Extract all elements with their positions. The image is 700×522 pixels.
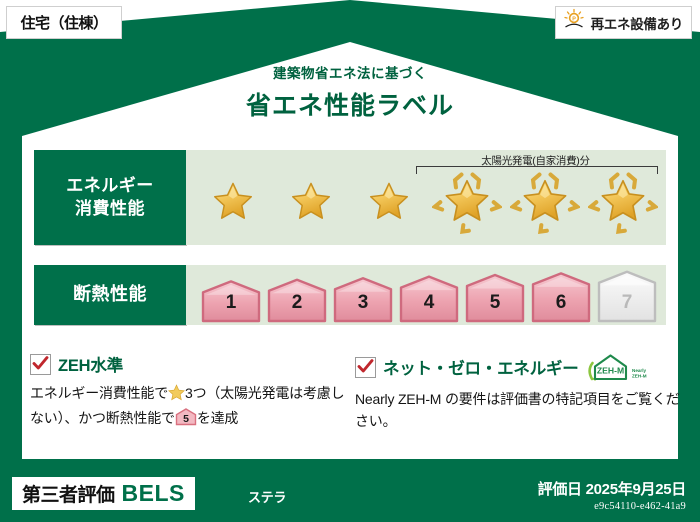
bels-badge: 第三者評価 BELS: [12, 477, 195, 510]
house-icon: 1: [198, 269, 264, 323]
energy-performance-label: 住宅（住棟） P 再エネ設備あり 建築物省エネ法に基づく 省エネ性能ラベル: [0, 0, 700, 522]
evaluation-info: 評価日 2025年9月25日 e9c54110-e462-41a9: [538, 478, 686, 512]
insulation-level-number: 6: [528, 292, 594, 314]
star-rating-strip: [194, 166, 664, 242]
checkmark-icon: [30, 354, 51, 375]
zeh-m-logo: ZEH-M Nearly ZEH-M: [586, 352, 648, 382]
insulation-level-strip: 1 2: [198, 268, 664, 323]
zeh-body-post: を達成: [197, 410, 238, 426]
evaluation-id: e9c54110-e462-41a9: [538, 501, 686, 512]
housing-type-label: 住宅（住棟）: [20, 12, 107, 33]
bels-label: BELS: [122, 480, 185, 507]
title-subtitle: 建築物省エネ法に基づく: [0, 62, 700, 82]
insulation-level-number: 7: [594, 292, 660, 314]
zeh-statement-body: エネルギー消費性能で 3つ（太陽光発電は考慮しない）、かつ断熱性能で 5 を達成: [30, 383, 350, 432]
star-icon: [272, 166, 350, 242]
insulation-performance-label: 断熱性能: [34, 265, 186, 325]
svg-text:P: P: [572, 16, 576, 22]
zeh-standard-statement: ZEH水準 エネルギー消費性能で 3つ（太陽光発電は考慮しない）、かつ断熱性能で…: [30, 352, 350, 432]
zeh-statement-header: ZEH水準: [30, 352, 350, 376]
solar-sun-icon: P: [562, 8, 586, 37]
house-icon: 2: [264, 269, 330, 323]
third-party-label: 第三者評価: [22, 480, 115, 507]
insulation-label-text: 断熱性能: [73, 283, 147, 306]
insulation-level-number: 5: [462, 292, 528, 314]
title-main: 省エネ性能ラベル: [0, 86, 700, 122]
energy-label-line2: 消費性能: [75, 198, 145, 220]
star-icon: [428, 166, 506, 242]
energy-rating-panel: 太陽光発電(自家消費)分: [186, 150, 666, 245]
renewable-energy-tag: P 再エネ設備あり: [555, 6, 692, 39]
star-icon: [194, 166, 272, 242]
energy-performance-label: エネルギー 消費性能: [34, 150, 186, 245]
checkmark-icon: [355, 357, 376, 378]
house-icon: 7: [594, 269, 660, 323]
house-icon: 5: [462, 269, 528, 323]
label-title-block: 建築物省エネ法に基づく 省エネ性能ラベル: [0, 62, 700, 122]
nze-statement-header: ネット・ゼロ・エネルギー ZEH-M Nearly ZEH-M: [355, 352, 685, 382]
insulation-level-number: 3: [330, 292, 396, 314]
insulation-level-number: 4: [396, 292, 462, 314]
inline-house-badge: 5: [175, 408, 197, 433]
energy-performance-row: エネルギー 消費性能 太陽光発電(自家消費)分: [34, 150, 666, 245]
zeh-statement-title: ZEH水準: [58, 352, 123, 376]
inline-star-icon: [168, 384, 185, 408]
svg-text:Nearly: Nearly: [632, 368, 646, 373]
house-icon: 6: [528, 269, 594, 323]
energy-label-line1: エネルギー: [66, 175, 154, 197]
nze-statement-body: Nearly ZEH-M の要件は評価書の特記項目をご覧ください。: [355, 389, 685, 432]
renewable-energy-label: 再エネ設備あり: [591, 13, 683, 33]
svg-text:ZEH-M: ZEH-M: [632, 374, 647, 379]
insulation-rating-panel: 1 2: [186, 265, 666, 325]
house-icon: 4: [396, 269, 462, 323]
nze-statement-title: ネット・ゼロ・エネルギー: [383, 355, 579, 379]
net-zero-energy-statement: ネット・ゼロ・エネルギー ZEH-M Nearly ZEH-M Nearly Z…: [355, 352, 685, 432]
star-icon: [584, 166, 662, 242]
house-icon: 3: [330, 269, 396, 323]
insulation-level-number: 2: [264, 292, 330, 314]
zeh-body-pre: エネルギー消費性能で: [30, 385, 168, 401]
brand-name: ステラ: [248, 487, 286, 506]
housing-type-tag: 住宅（住棟）: [6, 6, 122, 39]
evaluation-date: 評価日 2025年9月25日: [538, 478, 686, 499]
svg-text:ZEH-M: ZEH-M: [597, 366, 624, 376]
insulation-performance-row: 断熱性能 1: [34, 265, 666, 325]
svg-text:5: 5: [183, 413, 189, 425]
insulation-level-number: 1: [198, 292, 264, 314]
star-icon: [506, 166, 584, 242]
star-icon: [350, 166, 428, 242]
